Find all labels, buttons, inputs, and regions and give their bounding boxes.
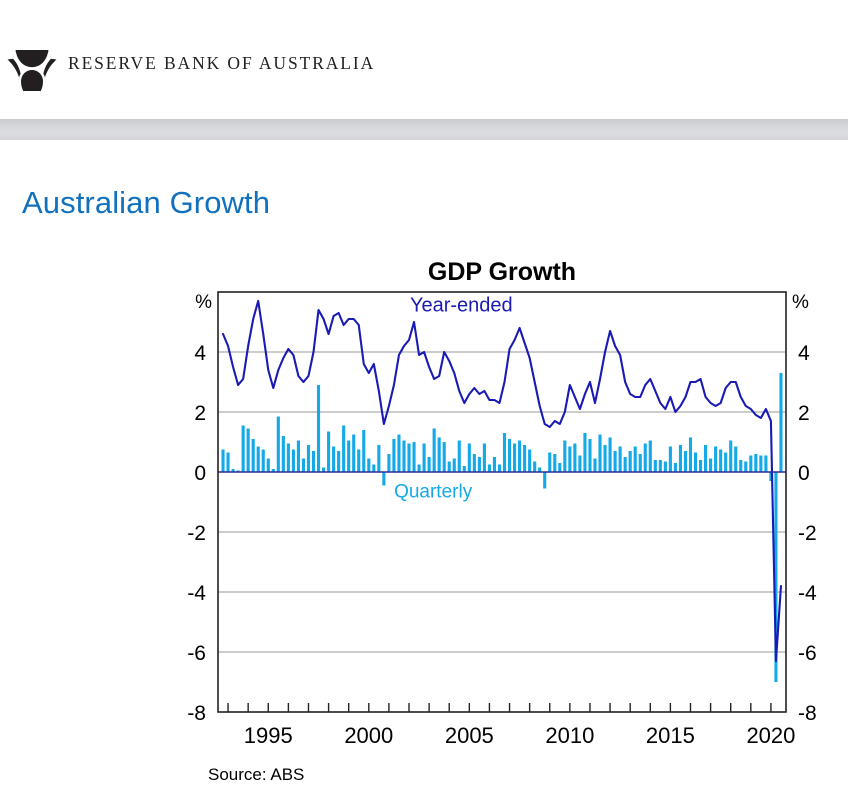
quarterly-bar: [473, 454, 476, 472]
quarterly-bar: [448, 462, 451, 473]
quarterly-bar: [377, 445, 380, 472]
plot-frame: [218, 292, 786, 712]
quarterly-bar: [433, 429, 436, 473]
quarterly-bar: [342, 426, 345, 473]
series-label-quarterly: Quarterly: [394, 482, 473, 503]
quarterly-bar: [332, 447, 335, 473]
quarterly-bar: [307, 445, 310, 472]
quarterly-bar: [498, 465, 501, 473]
quarterly-bar: [679, 445, 682, 472]
page-header: RESERVE BANK OF AUSTRALIA: [0, 0, 848, 118]
quarterly-bar: [418, 465, 421, 473]
quarterly-bar: [242, 426, 245, 473]
quarterly-bar: [508, 439, 511, 472]
quarterly-bar: [458, 441, 461, 473]
quarterly-bar: [312, 451, 315, 472]
quarterly-bar: [247, 429, 250, 473]
y-tick-label: 2: [194, 402, 206, 425]
quarterly-bar: [528, 450, 531, 473]
quarterly-bar: [719, 450, 722, 473]
quarterly-bar: [779, 373, 782, 472]
quarterly-bar: [483, 444, 486, 473]
quarterly-bar: [277, 417, 280, 473]
quarterly-bar: [337, 451, 340, 472]
quarterly-bar: [327, 432, 330, 473]
quarterly-bar: [598, 435, 601, 473]
quarterly-bar: [699, 460, 702, 472]
y-tick-label: 4: [194, 342, 206, 365]
quarterly-bar: [568, 447, 571, 473]
quarterly-bar: [714, 447, 717, 473]
y-tick-label-right: -2: [798, 522, 817, 545]
quarterly-bar: [764, 456, 767, 473]
quarterly-bar: [493, 457, 496, 472]
x-tick-label: 2000: [344, 723, 393, 748]
quarterly-bar: [221, 450, 224, 473]
quarterly-bar: [669, 447, 672, 473]
quarterly-bar: [543, 472, 546, 489]
quarterly-bar: [357, 450, 360, 473]
series-label-year-ended: Year-ended: [410, 295, 513, 317]
quarterly-bar: [523, 445, 526, 472]
y-axis-unit-right: %: [792, 292, 809, 313]
organisation-name: RESERVE BANK OF AUSTRALIA: [68, 53, 375, 74]
quarterly-bar: [729, 441, 732, 473]
quarterly-bar: [267, 459, 270, 473]
y-tick-label: -4: [187, 582, 206, 605]
quarterly-bars: [221, 373, 782, 682]
quarterly-bar: [709, 459, 712, 473]
page-title: Australian Growth: [22, 185, 270, 221]
quarterly-bar: [463, 466, 466, 472]
quarterly-bar: [674, 463, 677, 472]
quarterly-bar: [372, 465, 375, 473]
quarterly-bar: [664, 462, 667, 473]
quarterly-bar: [382, 472, 385, 486]
y-tick-label: -2: [187, 522, 206, 545]
quarterly-bar: [387, 454, 390, 472]
quarterly-bar: [639, 454, 642, 472]
x-tick-label: 2010: [545, 723, 594, 748]
gdp-growth-chart: GDP Growth 442200-2-2-4-4-6-6-8-8 199520…: [0, 248, 848, 793]
y-tick-label-right: -4: [798, 582, 817, 605]
quarterly-bar: [558, 463, 561, 472]
quarterly-bar: [704, 445, 707, 472]
y-tick-label: -8: [187, 702, 206, 725]
quarterly-bar: [518, 441, 521, 473]
x-tick-label: 2005: [445, 723, 494, 748]
y-tick-label: 0: [194, 462, 206, 485]
quarterly-bar: [453, 459, 456, 473]
source-note: Source: ABS: [208, 765, 304, 784]
x-tick-label: 2015: [646, 723, 695, 748]
y-tick-label-right: 2: [798, 402, 810, 425]
quarterly-bar: [287, 444, 290, 473]
quarterly-bar: [503, 433, 506, 472]
quarterly-bar: [739, 460, 742, 472]
quarterly-bar: [317, 385, 320, 472]
quarterly-bar: [226, 453, 229, 473]
quarterly-bar: [392, 439, 395, 472]
quarterly-bar: [724, 453, 727, 473]
x-tick-label: 1995: [244, 723, 293, 748]
quarterly-bar: [292, 450, 295, 473]
x-axis-tick-labels: 199520002005201020152020: [244, 723, 796, 748]
quarterly-bar: [609, 438, 612, 473]
y-axis-unit-left: %: [195, 292, 212, 313]
quarterly-bar: [629, 451, 632, 472]
quarterly-bar: [563, 441, 566, 473]
quarterly-bar: [759, 456, 762, 473]
quarterly-bar: [734, 447, 737, 473]
quarterly-bar: [684, 451, 687, 472]
quarterly-bar: [649, 441, 652, 473]
quarterly-bar: [573, 444, 576, 473]
quarterly-bar: [347, 441, 350, 473]
quarterly-bar: [402, 441, 405, 473]
quarterly-bar: [438, 438, 441, 473]
quarterly-bar: [634, 447, 637, 473]
quarterly-bar: [367, 459, 370, 473]
quarterly-bar: [553, 454, 556, 472]
quarterly-bar: [252, 439, 255, 472]
quarterly-bar: [659, 460, 662, 472]
quarterly-bar: [468, 444, 471, 473]
quarterly-bar: [694, 453, 697, 473]
x-tick-label: 2020: [746, 723, 795, 748]
quarterly-bar: [588, 439, 591, 472]
quarterly-bar: [624, 457, 627, 472]
quarterly-bar: [749, 456, 752, 473]
x-axis-ticks: [228, 703, 771, 712]
quarterly-bar: [488, 465, 491, 473]
quarterly-bar: [689, 438, 692, 473]
quarterly-bar: [397, 435, 400, 473]
quarterly-bar: [644, 444, 647, 473]
quarterly-bar: [262, 450, 265, 473]
quarterly-bar: [412, 442, 415, 472]
quarterly-bar: [754, 454, 757, 472]
quarterly-bar: [513, 444, 516, 473]
quarterly-bar: [428, 457, 431, 472]
quarterly-bar: [302, 459, 305, 473]
y-tick-label-right: 4: [798, 342, 810, 365]
quarterly-bar: [362, 430, 365, 472]
quarterly-bar: [257, 447, 260, 473]
quarterly-bar: [614, 451, 617, 472]
year-ended-line: [223, 301, 781, 661]
quarterly-bar: [478, 457, 481, 472]
quarterly-bar: [619, 447, 622, 473]
y-tick-label-right: -8: [798, 702, 817, 725]
quarterly-bar: [593, 459, 596, 473]
quarterly-bar: [744, 462, 747, 473]
rba-crest-icon: [6, 44, 58, 92]
y-tick-label-right: -6: [798, 642, 817, 665]
quarterly-bar: [443, 442, 446, 472]
header-divider: [0, 119, 848, 140]
quarterly-bar: [282, 436, 285, 472]
quarterly-bar: [407, 444, 410, 473]
quarterly-bar: [297, 441, 300, 473]
quarterly-bar: [548, 453, 551, 473]
quarterly-bar: [423, 444, 426, 473]
quarterly-bar: [654, 460, 657, 472]
y-tick-label: -6: [187, 642, 206, 665]
quarterly-bar: [583, 433, 586, 472]
y-tick-label-right: 0: [798, 462, 810, 485]
chart-title: GDP Growth: [428, 258, 576, 286]
quarterly-bar: [603, 445, 606, 472]
quarterly-bar: [352, 435, 355, 473]
quarterly-bar: [578, 456, 581, 473]
quarterly-bar: [533, 462, 536, 473]
